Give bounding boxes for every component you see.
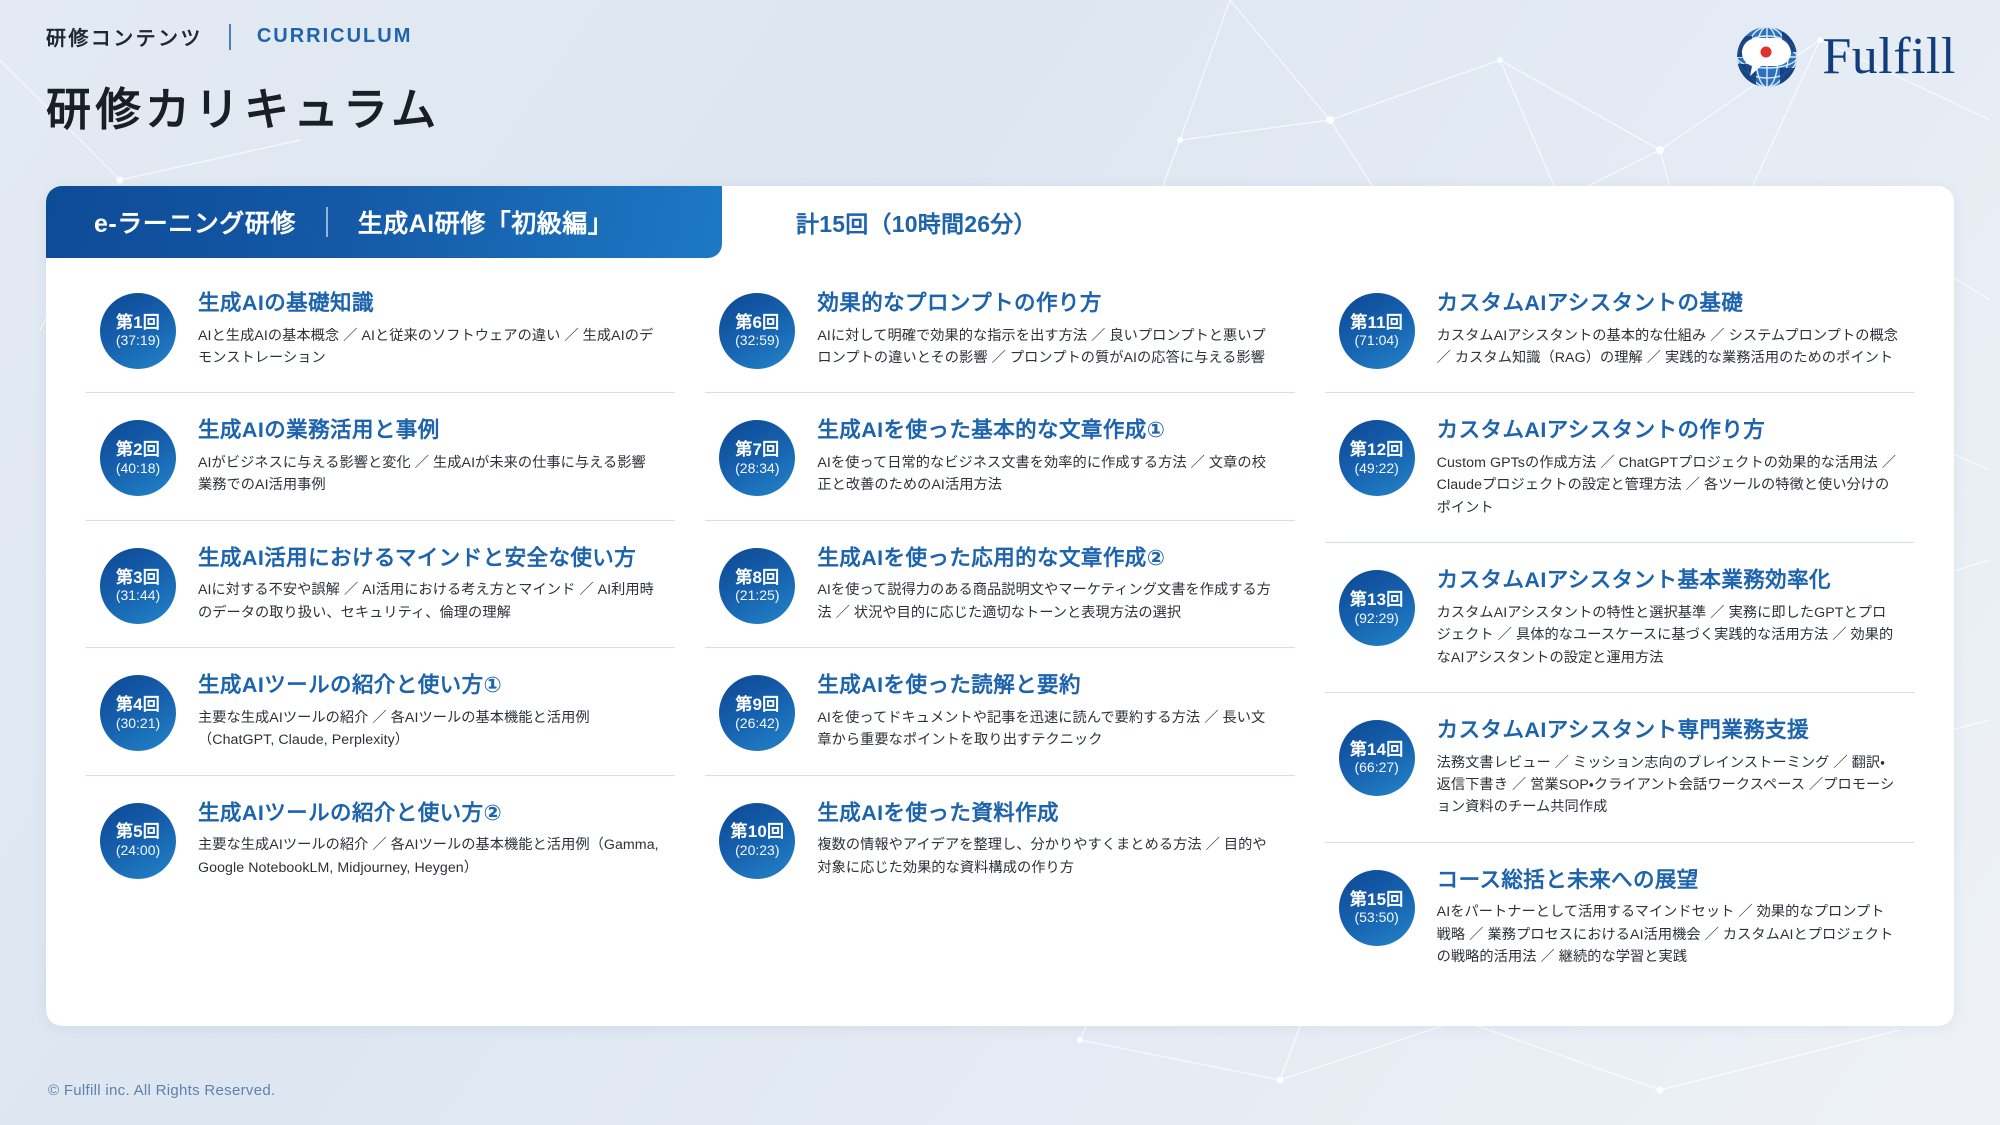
lesson-description: 複数の情報やアイデアを整理し、分かりやすくまとめる方法 ／ 目的や対象に応じた効… [817, 834, 1278, 879]
lesson-item[interactable]: 第13回 (92:29) カスタムAIアシスタント基本業務効率化 カスタムAIア… [1325, 542, 1914, 692]
lesson-number: 第7回 [735, 440, 779, 460]
lesson-title: 生成AIを使った基本的な文章作成① [817, 417, 1278, 445]
lesson-item[interactable]: 第4回 (30:21) 生成AIツールの紹介と使い方① 主要な生成AIツールの紹… [86, 647, 675, 774]
lesson-title: 生成AIを使った読解と要約 [817, 672, 1278, 700]
lesson-body: 生成AIツールの紹介と使い方② 主要な生成AIツールの紹介 ／ 各AIツールの基… [198, 799, 659, 879]
lesson-badge: 第10回 (20:23) [719, 803, 795, 879]
lesson-badge: 第1回 (37:19) [100, 293, 176, 369]
lesson-item[interactable]: 第6回 (32:59) 効果的なプロンプトの作り方 AIに対して明確で効果的な指… [705, 266, 1294, 392]
lesson-number: 第2回 [116, 440, 160, 460]
lesson-duration: (92:29) [1354, 610, 1398, 627]
course-ribbon: e-ラーニング研修 生成AI研修「初級編」 [46, 186, 722, 258]
lesson-body: 生成AIツールの紹介と使い方① 主要な生成AIツールの紹介 ／ 各AIツールの基… [198, 671, 659, 751]
lesson-title: 生成AIツールの紹介と使い方① [198, 672, 659, 700]
lesson-title: 生成AIの業務活用と事例 [198, 417, 659, 445]
lesson-number: 第10回 [731, 822, 785, 842]
lesson-item[interactable]: 第11回 (71:04) カスタムAIアシスタントの基礎 カスタムAIアシスタン… [1325, 266, 1914, 392]
lesson-description: AIに対して明確で効果的な指示を出す方法 ／ 良いプロンプトと悪いプロンプトの違… [817, 325, 1278, 370]
lesson-duration: (30:21) [116, 715, 160, 732]
page-title: 研修カリキュラム [46, 73, 441, 138]
globe-speech-bubble-icon [1734, 24, 1808, 90]
lesson-duration: (20:23) [735, 842, 779, 859]
total-sessions-label: 計15回（10時間26分） [796, 186, 1037, 258]
lesson-body: 生成AIの業務活用と事例 AIがビジネスに与える影響と変化 ／ 生成AIが未来の… [198, 416, 659, 496]
lesson-duration: (49:22) [1354, 460, 1398, 477]
lesson-column-2: 第6回 (32:59) 効果的なプロンプトの作り方 AIに対して明確で効果的な指… [705, 266, 1294, 992]
lesson-number: 第1回 [116, 313, 160, 333]
lesson-description: カスタムAIアシスタントの基本的な仕組み ／ システムプロンプトの概念 ／ カス… [1437, 325, 1898, 370]
lesson-badge: 第9回 (26:42) [719, 675, 795, 751]
lesson-title: カスタムAIアシスタント専門業務支援 [1437, 717, 1898, 745]
curriculum-card: e-ラーニング研修 生成AI研修「初級編」 計15回（10時間26分） 第1回 … [46, 186, 1954, 1026]
lesson-number: 第6回 [735, 313, 779, 333]
lesson-description: AIに対する不安や誤解 ／ AI活用における考え方とマインド ／ AI利用時のデ… [198, 579, 659, 624]
lesson-badge: 第13回 (92:29) [1339, 570, 1415, 646]
lesson-item[interactable]: 第1回 (37:19) 生成AIの基礎知識 AIと生成AIの基本概念 ／ AIと… [86, 266, 675, 392]
lesson-item[interactable]: 第2回 (40:18) 生成AIの業務活用と事例 AIがビジネスに与える影響と変… [86, 392, 675, 519]
lesson-badge: 第8回 (21:25) [719, 548, 795, 624]
lesson-body: カスタムAIアシスタント基本業務効率化 カスタムAIアシスタントの特性と選択基準… [1437, 566, 1898, 669]
lesson-description: AIを使って説得力のある商品説明文やマーケティング文書を作成する方法 ／ 状況や… [817, 579, 1278, 624]
lesson-badge: 第4回 (30:21) [100, 675, 176, 751]
breadcrumb: 研修コンテンツ CURRICULUM [46, 22, 441, 51]
lesson-duration: (66:27) [1354, 759, 1398, 776]
lesson-duration: (28:34) [735, 460, 779, 477]
lesson-duration: (32:59) [735, 332, 779, 349]
lesson-column-3: 第11回 (71:04) カスタムAIアシスタントの基礎 カスタムAIアシスタン… [1325, 266, 1914, 992]
lesson-duration: (40:18) [116, 460, 160, 477]
lesson-item[interactable]: 第14回 (66:27) カスタムAIアシスタント専門業務支援 法務文書レビュー… [1325, 692, 1914, 842]
lesson-body: コース総括と未来への展望 AIをパートナーとして活用するマインドセット ／ 効果… [1437, 866, 1898, 969]
lesson-item[interactable]: 第12回 (49:22) カスタムAIアシスタントの作り方 Custom GPT… [1325, 392, 1914, 542]
lesson-badge: 第6回 (32:59) [719, 293, 795, 369]
lesson-number: 第13回 [1350, 590, 1404, 610]
lesson-body: 生成AIを使った基本的な文章作成① AIを使って日常的なビジネス文書を効率的に作… [817, 416, 1278, 496]
lesson-item[interactable]: 第7回 (28:34) 生成AIを使った基本的な文章作成① AIを使って日常的な… [705, 392, 1294, 519]
lesson-item[interactable]: 第8回 (21:25) 生成AIを使った応用的な文章作成② AIを使って説得力の… [705, 520, 1294, 647]
ribbon-divider [326, 207, 328, 237]
lesson-description: AIを使ってドキュメントや記事を迅速に読んで要約する方法 ／ 長い文章から重要な… [817, 707, 1278, 752]
eyebrow-label-jp: 研修コンテンツ [46, 22, 203, 51]
lesson-duration: (24:00) [116, 842, 160, 859]
lesson-body: カスタムAIアシスタントの作り方 Custom GPTsの作成方法 ／ Chat… [1437, 416, 1898, 519]
lesson-number: 第15回 [1350, 890, 1404, 910]
lesson-column-1: 第1回 (37:19) 生成AIの基礎知識 AIと生成AIの基本概念 ／ AIと… [86, 266, 675, 992]
logo-wordmark: Fulfill [1822, 31, 1956, 83]
lesson-badge: 第15回 (53:50) [1339, 870, 1415, 946]
lesson-description: AIを使って日常的なビジネス文書を効率的に作成する方法 ／ 文章の校正と改善のた… [817, 452, 1278, 497]
lesson-number: 第5回 [116, 822, 160, 842]
lesson-body: 生成AIを使った資料作成 複数の情報やアイデアを整理し、分かりやすくまとめる方法… [817, 799, 1278, 879]
lesson-duration: (71:04) [1354, 332, 1398, 349]
lesson-number: 第8回 [735, 568, 779, 588]
lesson-item[interactable]: 第10回 (20:23) 生成AIを使った資料作成 複数の情報やアイデアを整理し… [705, 775, 1294, 902]
lesson-description: 法務文書レビュー ／ ミッション志向のブレインストーミング ／ 翻訳・返信下書き… [1437, 752, 1898, 819]
lesson-columns: 第1回 (37:19) 生成AIの基礎知識 AIと生成AIの基本概念 ／ AIと… [46, 266, 1954, 992]
lesson-title: 生成AIを使った応用的な文章作成② [817, 545, 1278, 573]
lesson-item[interactable]: 第15回 (53:50) コース総括と未来への展望 AIをパートナーとして活用す… [1325, 842, 1914, 992]
lesson-description: 主要な生成AIツールの紹介 ／ 各AIツールの基本機能と活用例（Gamma, G… [198, 834, 659, 879]
lesson-body: カスタムAIアシスタント専門業務支援 法務文書レビュー ／ ミッション志向のブレ… [1437, 716, 1898, 819]
lesson-badge: 第5回 (24:00) [100, 803, 176, 879]
lesson-description: Custom GPTsの作成方法 ／ ChatGPTプロジェクトの効果的な活用法… [1437, 452, 1898, 519]
lesson-duration: (31:44) [116, 587, 160, 604]
lesson-description: AIと生成AIの基本概念 ／ AIと従来のソフトウェアの違い ／ 生成AIのデモ… [198, 325, 659, 370]
lesson-badge: 第2回 (40:18) [100, 420, 176, 496]
brand-logo: Fulfill [1734, 24, 1956, 90]
lesson-title: カスタムAIアシスタントの基礎 [1437, 290, 1898, 318]
lesson-duration: (53:50) [1354, 909, 1398, 926]
lesson-number: 第3回 [116, 568, 160, 588]
lesson-number: 第14回 [1350, 740, 1404, 760]
lesson-description: カスタムAIアシスタントの特性と選択基準 ／ 実務に即したGPTとプロジェクト … [1437, 602, 1898, 669]
lesson-badge: 第12回 (49:22) [1339, 420, 1415, 496]
lesson-title: カスタムAIアシスタント基本業務効率化 [1437, 567, 1898, 595]
lesson-body: カスタムAIアシスタントの基礎 カスタムAIアシスタントの基本的な仕組み ／ シ… [1437, 289, 1898, 369]
lesson-body: 生成AI活用におけるマインドと安全な使い方 AIに対する不安や誤解 ／ AI活用… [198, 544, 659, 624]
lesson-title: 生成AIの基礎知識 [198, 290, 659, 318]
lesson-title: 生成AIを使った資料作成 [817, 800, 1278, 828]
lesson-item[interactable]: 第5回 (24:00) 生成AIツールの紹介と使い方② 主要な生成AIツールの紹… [86, 775, 675, 902]
lesson-badge: 第11回 (71:04) [1339, 293, 1415, 369]
lesson-body: 生成AIを使った応用的な文章作成② AIを使って説得力のある商品説明文やマーケテ… [817, 544, 1278, 624]
lesson-item[interactable]: 第3回 (31:44) 生成AI活用におけるマインドと安全な使い方 AIに対する… [86, 520, 675, 647]
lesson-title: カスタムAIアシスタントの作り方 [1437, 417, 1898, 445]
lesson-badge: 第14回 (66:27) [1339, 720, 1415, 796]
lesson-duration: (26:42) [735, 715, 779, 732]
ribbon-right-label: 生成AI研修「初級編」 [358, 204, 614, 240]
lesson-description: AIをパートナーとして活用するマインドセット ／ 効果的なプロンプト戦略 ／ 業… [1437, 901, 1898, 968]
lesson-title: 効果的なプロンプトの作り方 [817, 290, 1278, 318]
lesson-duration: (21:25) [735, 587, 779, 604]
lesson-description: 主要な生成AIツールの紹介 ／ 各AIツールの基本機能と活用例（ChatGPT,… [198, 707, 659, 752]
lesson-number: 第12回 [1350, 440, 1404, 460]
eyebrow-divider [229, 24, 231, 50]
lesson-body: 生成AIを使った読解と要約 AIを使ってドキュメントや記事を迅速に読んで要約する… [817, 671, 1278, 751]
lesson-number: 第9回 [735, 695, 779, 715]
lesson-number: 第4回 [116, 695, 160, 715]
lesson-badge: 第3回 (31:44) [100, 548, 176, 624]
lesson-description: AIがビジネスに与える影響と変化 ／ 生成AIが未来の仕事に与える影響業務でのA… [198, 452, 659, 497]
lesson-title: コース総括と未来への展望 [1437, 867, 1898, 895]
lesson-title: 生成AIツールの紹介と使い方② [198, 800, 659, 828]
ribbon-left-label: e-ラーニング研修 [94, 204, 296, 240]
lesson-title: 生成AI活用におけるマインドと安全な使い方 [198, 545, 659, 573]
page-header: 研修コンテンツ CURRICULUM 研修カリキュラム [46, 22, 441, 138]
lesson-duration: (37:19) [116, 332, 160, 349]
eyebrow-label-en: CURRICULUM [257, 25, 413, 48]
lesson-body: 効果的なプロンプトの作り方 AIに対して明確で効果的な指示を出す方法 ／ 良いプ… [817, 289, 1278, 369]
lesson-body: 生成AIの基礎知識 AIと生成AIの基本概念 ／ AIと従来のソフトウェアの違い… [198, 289, 659, 369]
lesson-item[interactable]: 第9回 (26:42) 生成AIを使った読解と要約 AIを使ってドキュメントや記… [705, 647, 1294, 774]
footer-copyright: © Fulfill inc. All Rights Reserved. [48, 1082, 275, 1099]
lesson-number: 第11回 [1350, 313, 1403, 333]
lesson-badge: 第7回 (28:34) [719, 420, 795, 496]
